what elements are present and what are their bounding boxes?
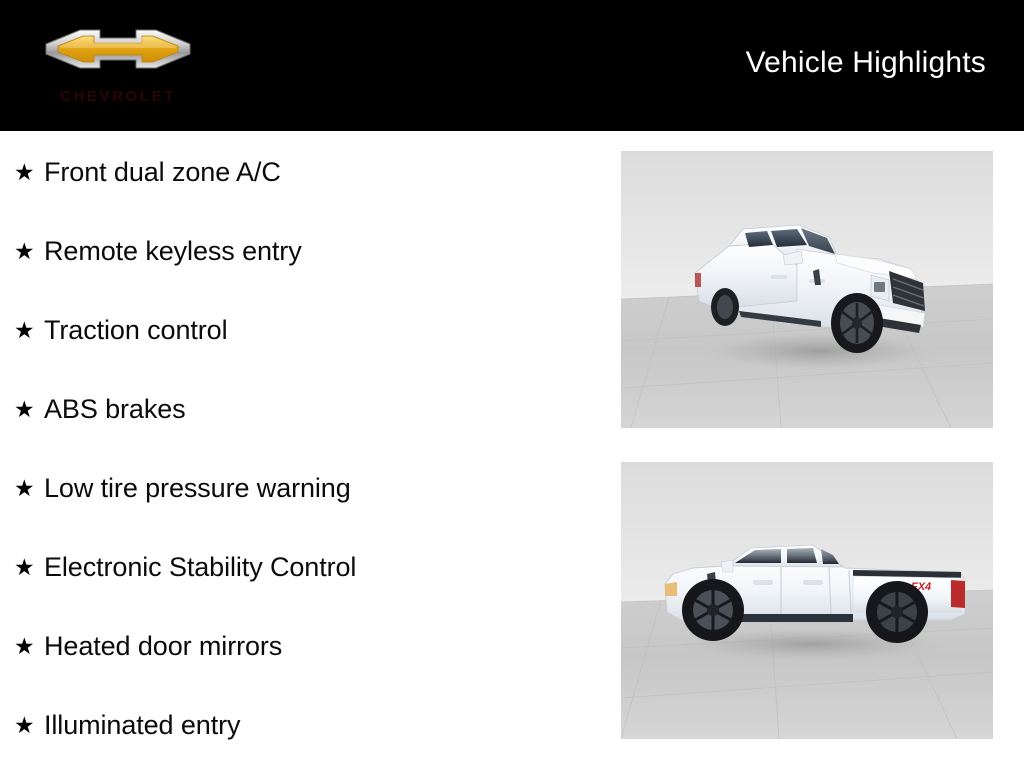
list-item: ★ ABS brakes — [14, 389, 186, 429]
highlight-label: Electronic Stability Control — [44, 551, 356, 583]
header-bar: CHEVROLET Vehicle Highlights — [0, 0, 1024, 131]
vehicle-highlights-list: ★ Front dual zone A/C ★ Remote keyless e… — [0, 131, 600, 768]
list-item: ★ Heated door mirrors — [14, 626, 282, 666]
highlight-label: Remote keyless entry — [44, 235, 302, 267]
star-bullet-icon: ★ — [14, 556, 44, 579]
highlight-label: ABS brakes — [44, 393, 186, 425]
list-item: ★ Low tire pressure warning — [14, 468, 351, 508]
star-bullet-icon: ★ — [14, 319, 44, 342]
list-item: ★ Front dual zone A/C — [14, 152, 281, 192]
list-item: ★ Electronic Stability Control — [14, 547, 356, 587]
star-bullet-icon: ★ — [14, 635, 44, 658]
highlight-label: Front dual zone A/C — [44, 156, 281, 188]
page-title: Vehicle Highlights — [746, 46, 986, 80]
vehicle-photo-side-profile[interactable]: FX4 — [621, 462, 993, 739]
vehicle-photo-front-three-quarter[interactable] — [621, 151, 993, 428]
star-bullet-icon: ★ — [14, 240, 44, 263]
chevrolet-bowtie-icon — [36, 22, 200, 86]
brand-wordmark: CHEVROLET — [50, 88, 186, 106]
star-bullet-icon: ★ — [14, 398, 44, 421]
star-bullet-icon: ★ — [14, 477, 44, 500]
star-bullet-icon: ★ — [14, 161, 44, 184]
highlight-label: Traction control — [44, 314, 227, 346]
list-item: ★ Illuminated entry — [14, 705, 240, 745]
highlight-label: Heated door mirrors — [44, 630, 282, 662]
list-item: ★ Remote keyless entry — [14, 231, 302, 271]
star-bullet-icon: ★ — [14, 714, 44, 737]
highlight-label: Illuminated entry — [44, 709, 240, 741]
brand-logo: CHEVROLET — [36, 22, 200, 114]
list-item: ★ Traction control — [14, 310, 227, 350]
highlight-label: Low tire pressure warning — [44, 472, 351, 504]
